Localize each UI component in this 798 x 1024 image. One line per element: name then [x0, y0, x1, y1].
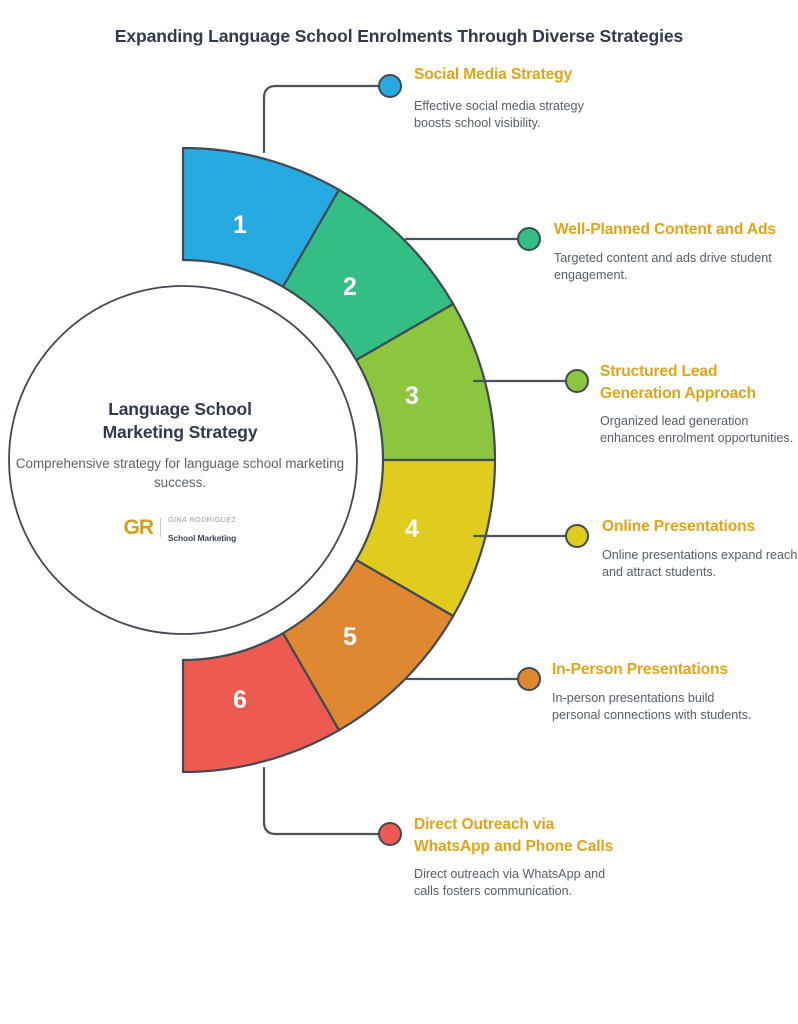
step-dot-4[interactable]	[566, 525, 588, 547]
segment-number-3: 3	[405, 382, 419, 410]
infographic-canvas: Expanding Language School Enrolments Thr…	[0, 0, 798, 1024]
callout-6-title: Direct Outreach via WhatsApp and Phone C…	[414, 814, 614, 857]
callout-4: Online Presentations Online presentation…	[602, 516, 798, 581]
callout-5-description: In-person presentations build personal c…	[552, 690, 762, 725]
callout-4-description: Online presentations expand reach and at…	[602, 547, 798, 582]
callout-2-title: Well-Planned Content and Ads	[554, 219, 782, 241]
callout-3-description: Organized lead generation enhances enrol…	[600, 413, 796, 448]
callout-1-title: Social Media Strategy	[414, 64, 614, 86]
callout-6-description: Direct outreach via WhatsApp and calls f…	[414, 866, 614, 901]
step-dot-2[interactable]	[518, 228, 540, 250]
callout-5-title: In-Person Presentations	[552, 659, 762, 681]
callout-2: Well-Planned Content and Ads Targeted co…	[554, 219, 782, 284]
hub-circle	[9, 286, 357, 634]
step-dot-3[interactable]	[566, 370, 588, 392]
callout-4-title: Online Presentations	[602, 516, 798, 538]
callout-6: Direct Outreach via WhatsApp and Phone C…	[414, 814, 614, 901]
connector-line-6	[264, 768, 381, 834]
callout-3: Structured Lead Generation Approach Orga…	[600, 361, 796, 448]
step-dot-1[interactable]	[379, 75, 401, 97]
segment-number-5: 5	[343, 623, 357, 651]
connector-line-1	[264, 86, 381, 152]
callout-2-description: Targeted content and ads drive student e…	[554, 250, 782, 285]
callout-1: Social Media Strategy Effective social m…	[414, 64, 614, 132]
step-dot-6[interactable]	[379, 823, 401, 845]
callout-5: In-Person Presentations In-person presen…	[552, 659, 762, 724]
segment-number-6: 6	[233, 686, 247, 714]
segment-number-1: 1	[233, 211, 247, 239]
callout-1-description: Effective social media strategy boosts s…	[414, 98, 614, 133]
segment-number-2: 2	[343, 273, 357, 301]
segment-number-4: 4	[405, 515, 419, 543]
callout-3-title: Structured Lead Generation Approach	[600, 361, 796, 404]
step-dot-5[interactable]	[518, 668, 540, 690]
half-donut-diagram: 1 2 3 4 5 6	[0, 0, 798, 1024]
